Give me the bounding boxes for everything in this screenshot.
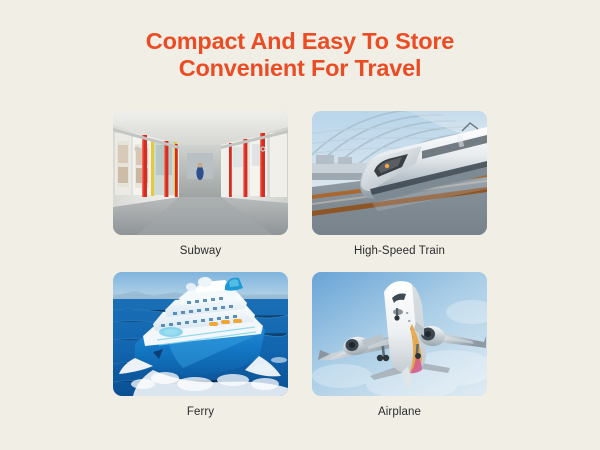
- high-speed-train-thumbnail[interactable]: [312, 111, 487, 235]
- subway-train-interior-photo: [113, 111, 288, 235]
- transport-card-grid: Subway: [113, 111, 487, 419]
- page-title-line-1: Compact And Easy To Store: [0, 28, 600, 55]
- airplane-thumbnail[interactable]: [312, 272, 487, 396]
- high-speed-train-photo: [312, 111, 487, 235]
- transport-card-airplane[interactable]: Airplane: [312, 272, 487, 419]
- ferry-cruise-ship-photo: [113, 272, 288, 396]
- transport-card-subway[interactable]: Subway: [113, 111, 288, 258]
- promo-banner: Compact And Easy To Store Convenient For…: [0, 0, 600, 450]
- transport-card-label-high-speed-train: High-Speed Train: [312, 244, 487, 258]
- subway-thumbnail[interactable]: [113, 111, 288, 235]
- page-title-line-2: Convenient For Travel: [0, 55, 600, 82]
- transport-card-high-speed-train[interactable]: High-Speed Train: [312, 111, 487, 258]
- ferry-thumbnail[interactable]: [113, 272, 288, 396]
- transport-card-label-subway: Subway: [113, 244, 288, 258]
- transport-card-label-ferry: Ferry: [113, 405, 288, 419]
- transport-card-label-airplane: Airplane: [312, 405, 487, 419]
- airplane-photo: [312, 272, 487, 396]
- page-title: Compact And Easy To Store Convenient For…: [0, 28, 600, 82]
- transport-card-ferry[interactable]: Ferry: [113, 272, 288, 419]
